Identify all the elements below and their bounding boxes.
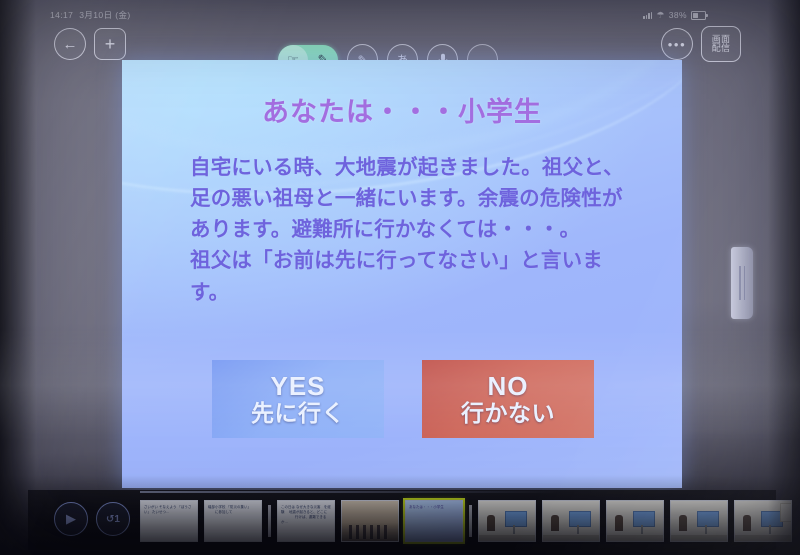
thumbnail-scene-image: [607, 501, 663, 541]
slide-filmstrip: ▶ ↺1 さいがい そなえよう 「ぼうさい」 たいせつ… 磯部小学校 「防災の集…: [28, 490, 776, 550]
thumbnail-6[interactable]: [478, 500, 536, 542]
reset-button[interactable]: ↺1: [96, 502, 130, 536]
thumbnail-10[interactable]: [734, 500, 792, 542]
thumbnail-scene-image: [671, 501, 727, 541]
back-button[interactable]: ←: [54, 28, 86, 60]
slide-canvas[interactable]: あなたは・・・小学生 自宅にいる時、大地震が起きました。祖父と、足の悪い祖母と一…: [122, 60, 682, 488]
filmstrip-progress-line: [140, 491, 560, 493]
reset-icon: ↺1: [106, 514, 120, 525]
slide-body-paragraph-1: 自宅にいる時、大地震が起きました。祖父と、足の悪い祖母と一緒にいます。余震の危険…: [190, 152, 640, 245]
thumbnail-scene-image: [479, 501, 535, 541]
thumbnail-3[interactable]: この日は なぜ大きな災害 を経験 地震が起きると、どこに 行けば、避難できるか…: [277, 500, 335, 542]
play-icon: ▶: [66, 511, 76, 527]
status-time: 14:17: [50, 10, 73, 20]
thumbnail-5-current-slide[interactable]: あなたは・・・小学生: [405, 500, 463, 542]
thumbnail-1[interactable]: さいがい そなえよう 「ぼうさい」 たいせつ…: [140, 500, 198, 542]
wifi-icon: ☂: [656, 11, 664, 20]
thumbnail-7[interactable]: [542, 500, 600, 542]
filmstrip-track[interactable]: さいがい そなえよう 「ぼうさい」 たいせつ… 磯部小学校 「防災の集い」 に参…: [140, 496, 776, 546]
tablet-photo: 14:17 3月10日 (金) ☂ 38% ← + ☞: [0, 0, 800, 555]
back-arrow-icon: ←: [63, 36, 78, 53]
more-options-icon: •••: [668, 37, 686, 52]
more-options-button[interactable]: •••: [661, 28, 693, 60]
plus-icon: +: [105, 34, 116, 55]
thumbnail-3-text: この日は なぜ大きな災害 を経験 地震が起きると、どこに 行けば、避難できるか…: [281, 505, 331, 525]
thumbnail-1-text: さいがい そなえよう 「ぼうさい」 たいせつ…: [144, 505, 194, 515]
screen-cast-button[interactable]: 画面 配信: [701, 26, 741, 62]
status-date: 3月10日 (金): [79, 9, 130, 21]
thumbnail-4-photo[interactable]: [341, 500, 399, 542]
scroll-handle[interactable]: [731, 247, 753, 319]
thumbnail-8[interactable]: [606, 500, 664, 542]
choice-no-label: NO: [488, 372, 529, 401]
battery-percent: 38%: [669, 10, 687, 20]
tablet-screen: 14:17 3月10日 (金) ☂ 38% ← + ☞: [28, 4, 776, 552]
thumbnail-2-text: 磯部小学校 「防災の集い」 に参加して: [208, 505, 258, 515]
cast-label-line2: 配信: [712, 44, 731, 53]
choice-no-sublabel: 行かない: [461, 401, 555, 427]
play-button[interactable]: ▶: [54, 502, 88, 536]
thumbnail-9[interactable]: [670, 500, 728, 542]
thumbnail-photo-image: [342, 501, 398, 541]
choice-no-button[interactable]: NO 行かない: [422, 360, 594, 438]
signal-bars-icon: [643, 11, 652, 19]
thumbnail-scene-image: [735, 501, 791, 541]
thumbnail-scene-image: [543, 501, 599, 541]
slide-body: 自宅にいる時、大地震が起きました。祖父と、足の悪い祖母と一緒にいます。余震の危険…: [190, 152, 640, 308]
choice-yes-sublabel: 先に行く: [251, 401, 345, 427]
thumbnail-5-text: あなたは・・・小学生: [409, 505, 459, 510]
filmstrip-separator-2: [469, 505, 472, 537]
slide-title: あなたは・・・小学生: [122, 90, 682, 129]
status-bar: 14:17 3月10日 (金) ☂ 38%: [38, 7, 766, 23]
battery-icon: [691, 11, 706, 20]
filmstrip-separator-1: [268, 505, 271, 537]
choice-yes-label: YES: [270, 372, 325, 401]
choice-yes-button[interactable]: YES 先に行く: [212, 360, 384, 438]
add-button[interactable]: +: [94, 28, 126, 60]
thumbnail-2[interactable]: 磯部小学校 「防災の集い」 に参加して: [204, 500, 262, 542]
slide-body-paragraph-2: 祖父は「お前は先に行ってなさい」と言います。: [190, 245, 640, 307]
